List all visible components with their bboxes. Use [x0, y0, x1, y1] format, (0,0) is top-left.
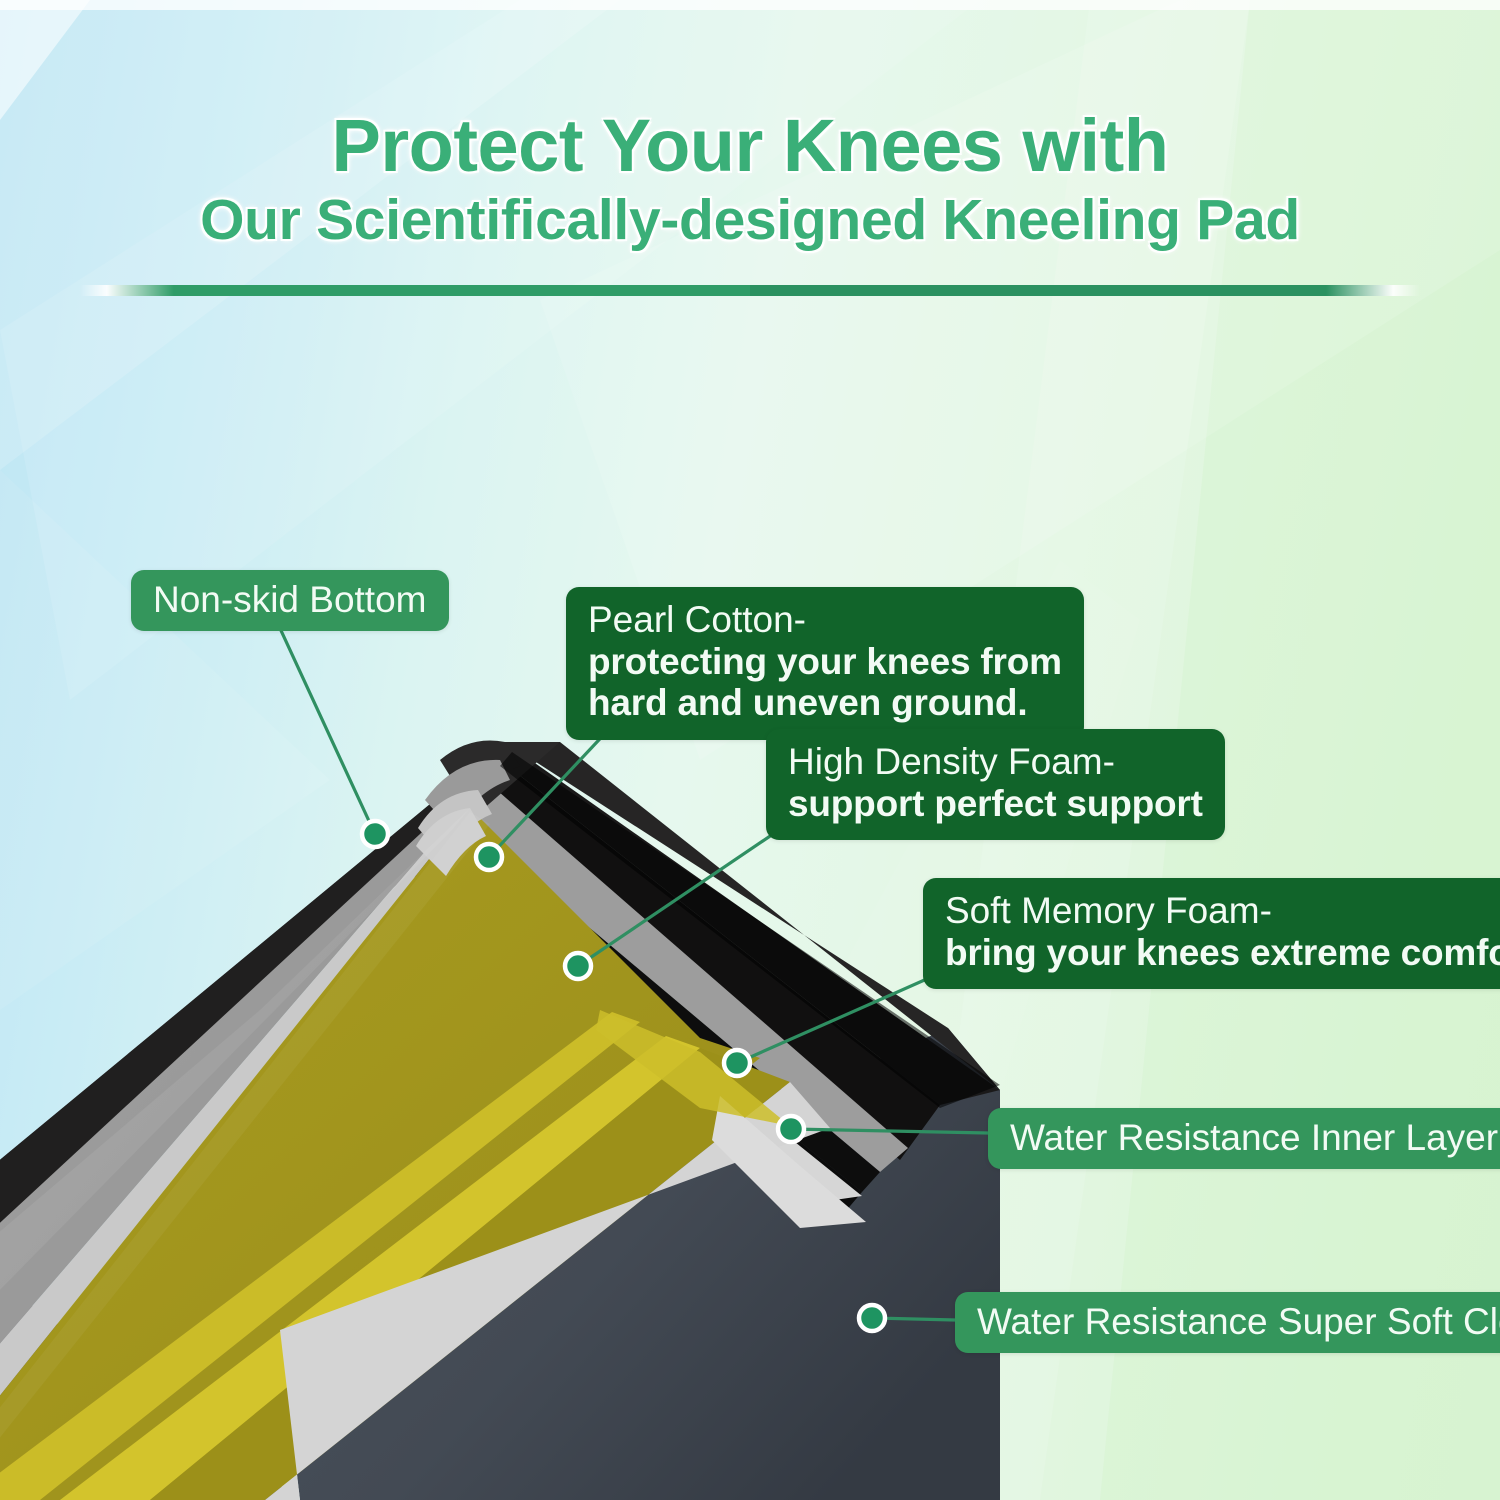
label-non-skid-bottom[interactable]: Non-skid Bottom	[131, 570, 449, 631]
label-water-resistance-inner-layer[interactable]: Water Resistance Inner Layer	[988, 1108, 1500, 1169]
label-soft-memory-foam[interactable]: Soft Memory Foam- bring your knees extre…	[923, 878, 1500, 989]
leader-non-skid-bottom	[278, 624, 375, 834]
label-high-density-foam[interactable]: High Density Foam- support perfect suppo…	[766, 729, 1225, 840]
label-pearl-cotton-body-2: hard and uneven ground.	[588, 682, 1062, 723]
label-water-resistance-super-soft-cloth[interactable]: Water Resistance Super Soft Cloth	[955, 1292, 1500, 1353]
label-pearl-cotton-body-1: protecting your knees from	[588, 641, 1062, 682]
label-non-skid-bottom-text: Non-skid Bottom	[153, 579, 427, 620]
leader-soft-memory-foam	[737, 974, 938, 1063]
label-water-resistance-super-soft-cloth-text: Water Resistance Super Soft Cloth	[977, 1301, 1500, 1342]
label-pearl-cotton[interactable]: Pearl Cotton- protecting your knees from…	[566, 587, 1084, 740]
dot-super-soft-cloth	[859, 1305, 885, 1331]
callout-leader-lines	[0, 0, 1500, 1500]
label-soft-memory-foam-title: Soft Memory Foam-	[945, 891, 1500, 932]
dot-high-density-foam	[565, 953, 591, 979]
label-water-resistance-inner-layer-text: Water Resistance Inner Layer	[1010, 1117, 1498, 1158]
label-high-density-foam-body: support perfect support	[788, 783, 1203, 824]
label-high-density-foam-title: High Density Foam-	[788, 742, 1203, 783]
dot-pearl-cotton	[476, 844, 502, 870]
dot-soft-memory-foam	[724, 1050, 750, 1076]
dot-inner-layer	[778, 1116, 804, 1142]
label-pearl-cotton-title: Pearl Cotton-	[588, 600, 1062, 641]
label-soft-memory-foam-body: bring your knees extreme comfort	[945, 932, 1500, 973]
dot-non-skid-bottom	[362, 821, 388, 847]
leader-high-density-foam	[578, 828, 782, 966]
leader-inner-layer	[791, 1129, 988, 1133]
infographic-canvas: Protect Your Knees with Our Scientifical…	[0, 0, 1500, 1500]
